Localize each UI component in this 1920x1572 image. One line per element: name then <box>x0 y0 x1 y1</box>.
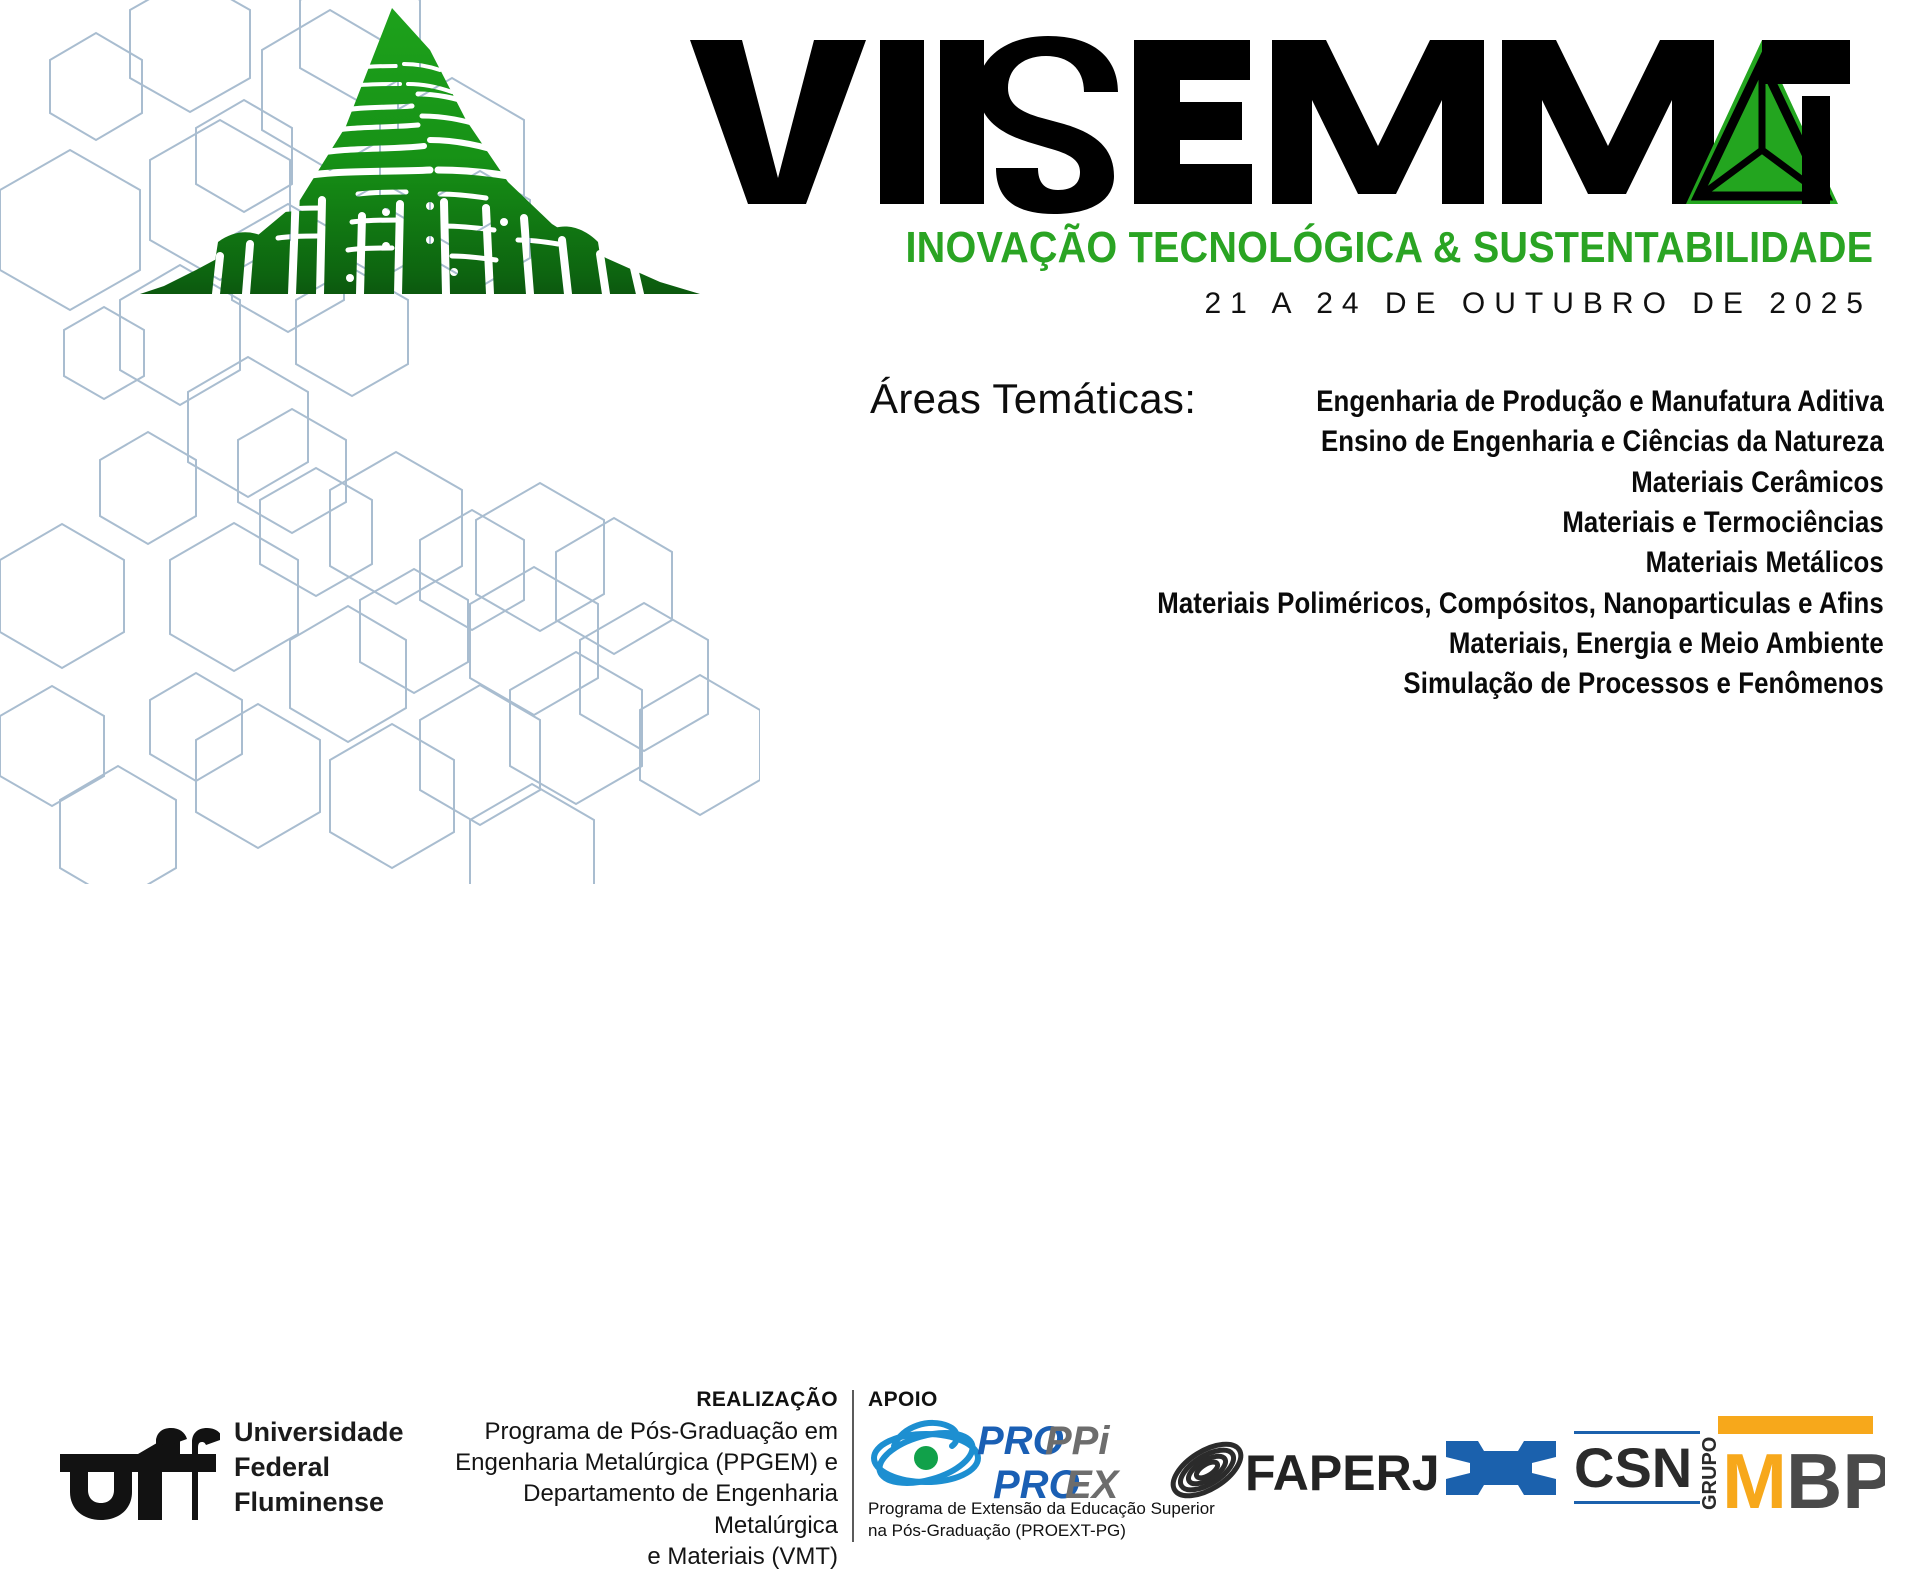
csn-wordmark-text: CSN <box>1574 1436 1692 1499</box>
event-dateline: 21 A 24 DE OUTUBRO DE 2025 <box>690 287 1920 321</box>
forest-triangle-graphic <box>100 0 720 354</box>
realizacao-heading: REALIZAÇÃO <box>398 1388 838 1412</box>
event-wordmark <box>690 18 1920 226</box>
mbp-top-bar <box>1718 1416 1873 1434</box>
faperj-spiral-icon <box>1165 1434 1249 1506</box>
list-item: Materiais e Termociências <box>1157 503 1884 543</box>
list-item: Materiais Poliméricos, Compósitos, Nanop… <box>1157 584 1884 624</box>
list-item: Ensino de Engenharia e Ciências da Natur… <box>1157 422 1884 462</box>
csn-logo: CSN <box>1438 1425 1703 1510</box>
faperj-logo: FAPERJ <box>1165 1430 1450 1510</box>
proppi-proex-logo: PRO PPi PRO EX <box>975 1418 1175 1504</box>
uff-line-1: Universidade <box>234 1415 404 1450</box>
proext-atom-icon <box>868 1416 990 1494</box>
event-title-block: INOVAÇÃO TECNOLÓGICA & SUSTENTABILIDADE … <box>690 18 1920 321</box>
proppi-ppi-text: PPi <box>1045 1419 1110 1463</box>
list-item: Materiais, Energia e Meio Ambiente <box>1157 624 1884 664</box>
realizacao-line-2: Engenharia Metalúrgica (PPGEM) e <box>398 1447 838 1478</box>
uff-logo-block: Universidade Federal Fluminense <box>52 1415 404 1520</box>
realizacao-block: REALIZAÇÃO Programa de Pós-Graduação em … <box>398 1388 838 1572</box>
realizacao-line-4: e Materiais (VMT) <box>398 1541 838 1572</box>
proext-caption-line-2: na Pós-Graduação (PROEXT-PG) <box>868 1520 1168 1542</box>
realizacao-line-1: Programa de Pós-Graduação em <box>398 1416 838 1447</box>
proex-ex-text: EX <box>1065 1463 1121 1504</box>
csn-bolt-icon <box>1446 1441 1556 1495</box>
mbp-m-text: M <box>1722 1437 1787 1517</box>
mbp-bp-text: BP <box>1786 1437 1885 1517</box>
grupo-mbp-logo: GRUPO M BP <box>1690 1412 1885 1517</box>
footer-sponsors: Universidade Federal Fluminense REALIZAÇ… <box>0 690 1920 884</box>
uff-wordmark-text: Universidade Federal Fluminense <box>234 1415 404 1520</box>
uff-logo-icon <box>52 1416 220 1520</box>
uff-line-2: Federal <box>234 1450 404 1485</box>
footer-divider <box>852 1390 854 1542</box>
apoio-heading: APOIO <box>868 1388 1168 1412</box>
proext-caption: Programa de Extensão da Educação Superio… <box>868 1498 1168 1542</box>
areas-tematicas-list: Engenharia de Produção e Manufatura Adit… <box>1039 382 1884 705</box>
realizacao-line-3: Departamento de Engenharia Metalúrgica <box>398 1478 838 1540</box>
list-item: Engenharia de Produção e Manufatura Adit… <box>1157 382 1884 422</box>
list-item: Materiais Cerâmicos <box>1157 463 1884 503</box>
list-item: Materiais Metálicos <box>1157 543 1884 583</box>
faperj-wordmark-text: FAPERJ <box>1245 1445 1440 1501</box>
mbp-grupo-text: GRUPO <box>1699 1437 1721 1510</box>
event-subtitle: INOVAÇÃO TECNOLÓGICA & SUSTENTABILIDADE <box>813 226 1920 271</box>
uff-line-3: Fluminense <box>234 1485 404 1520</box>
